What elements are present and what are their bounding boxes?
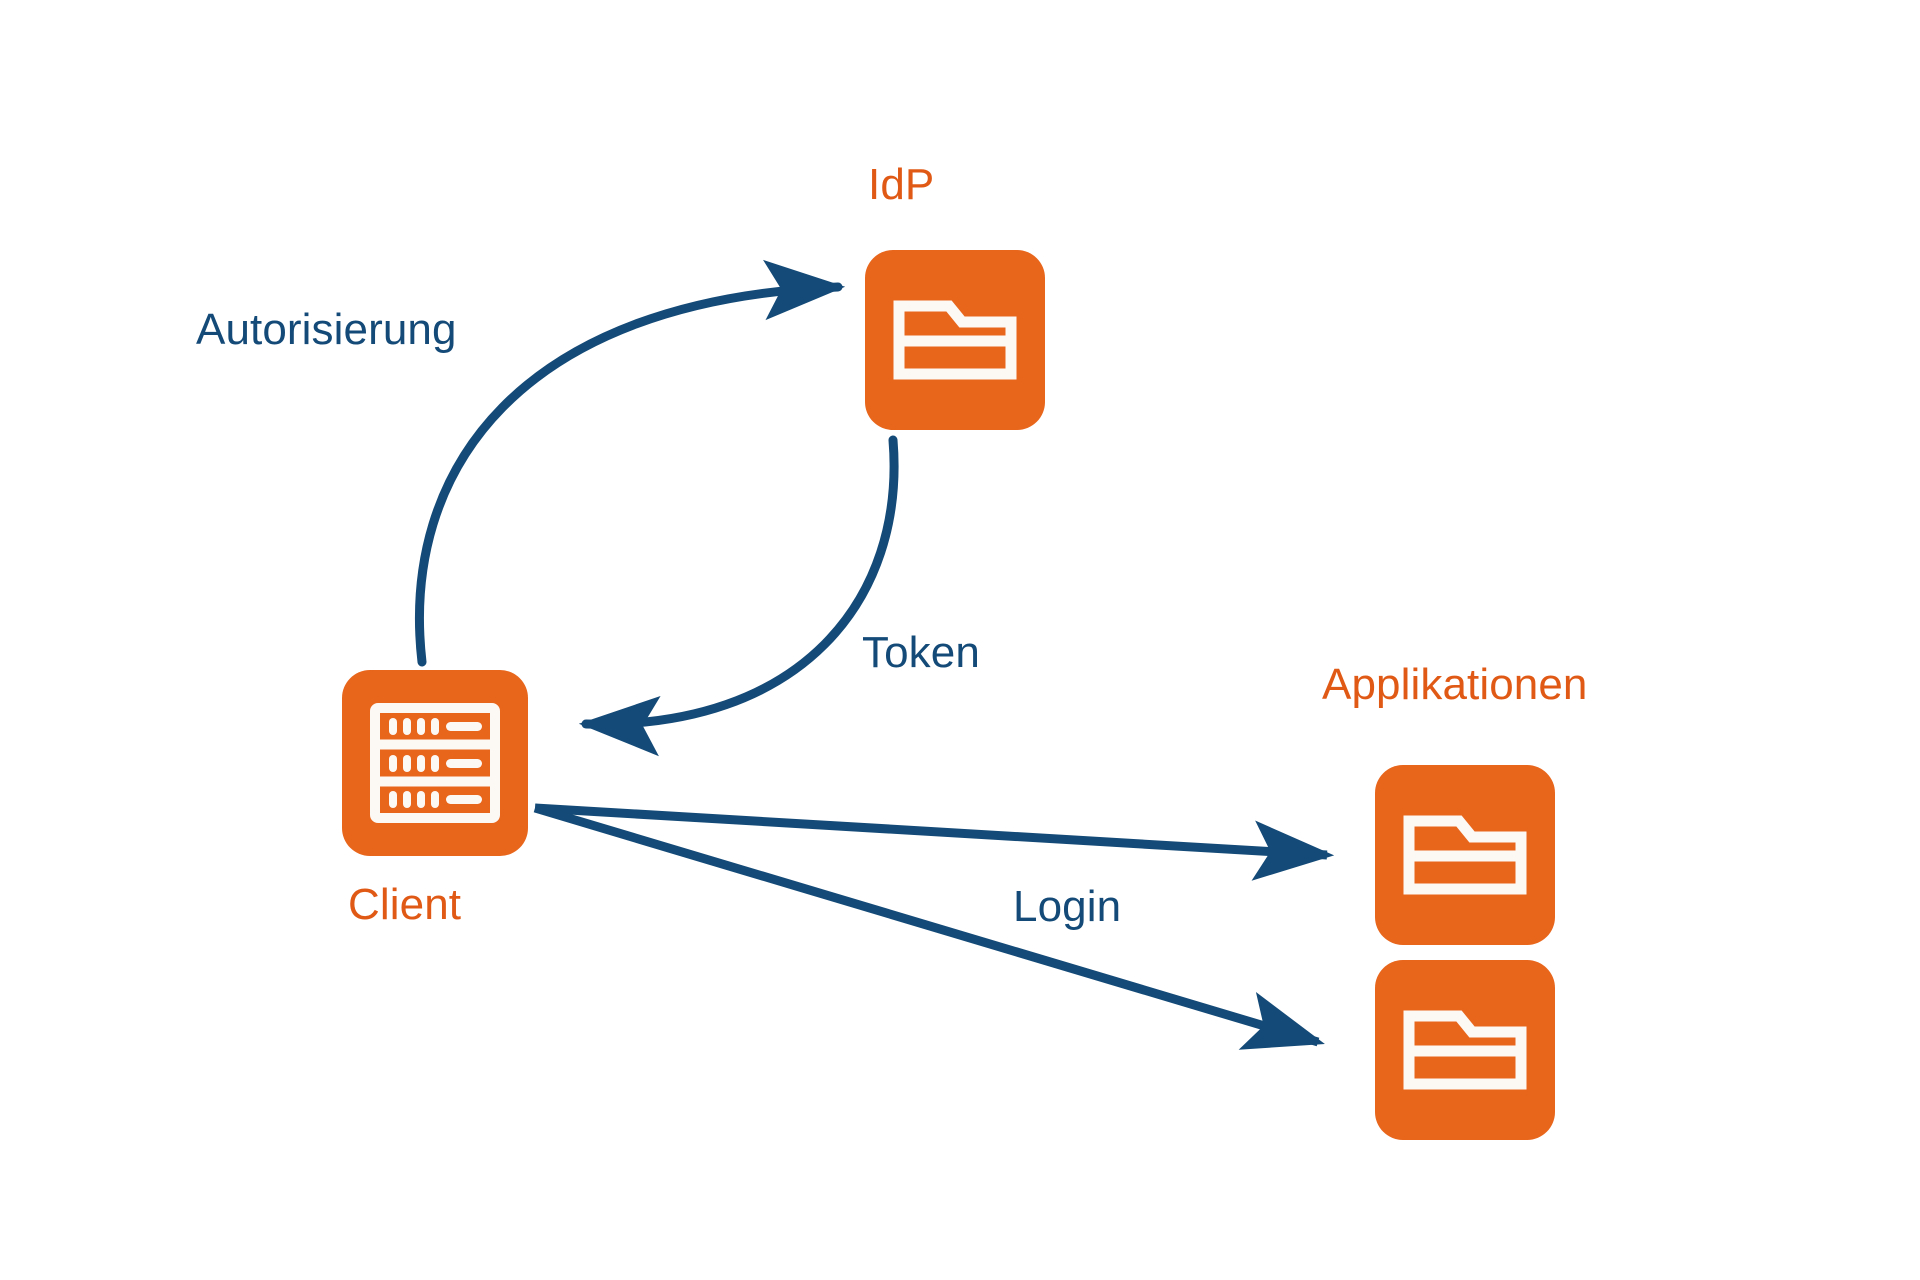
idp-label: IdP	[868, 160, 934, 210]
edge-token-arrow	[586, 440, 894, 724]
server-rack-icon	[342, 670, 528, 856]
client-tile[interactable]	[342, 670, 528, 856]
diagram-canvas: IdP	[0, 0, 1920, 1280]
application-tile-2[interactable]	[1375, 960, 1555, 1140]
applications-label: Applikationen	[1322, 660, 1588, 710]
application-tile-1[interactable]	[1375, 765, 1555, 945]
idp-tile[interactable]	[865, 250, 1045, 430]
edge-autorisierung-arrow	[419, 287, 838, 662]
edge-label-autorisierung: Autorisierung	[196, 305, 457, 355]
client-label: Client	[348, 880, 461, 930]
edge-label-login: Login	[1013, 882, 1121, 932]
folder-icon	[1375, 765, 1555, 945]
edge-label-token: Token	[862, 628, 980, 678]
folder-icon	[1375, 960, 1555, 1140]
folder-icon	[865, 250, 1045, 430]
